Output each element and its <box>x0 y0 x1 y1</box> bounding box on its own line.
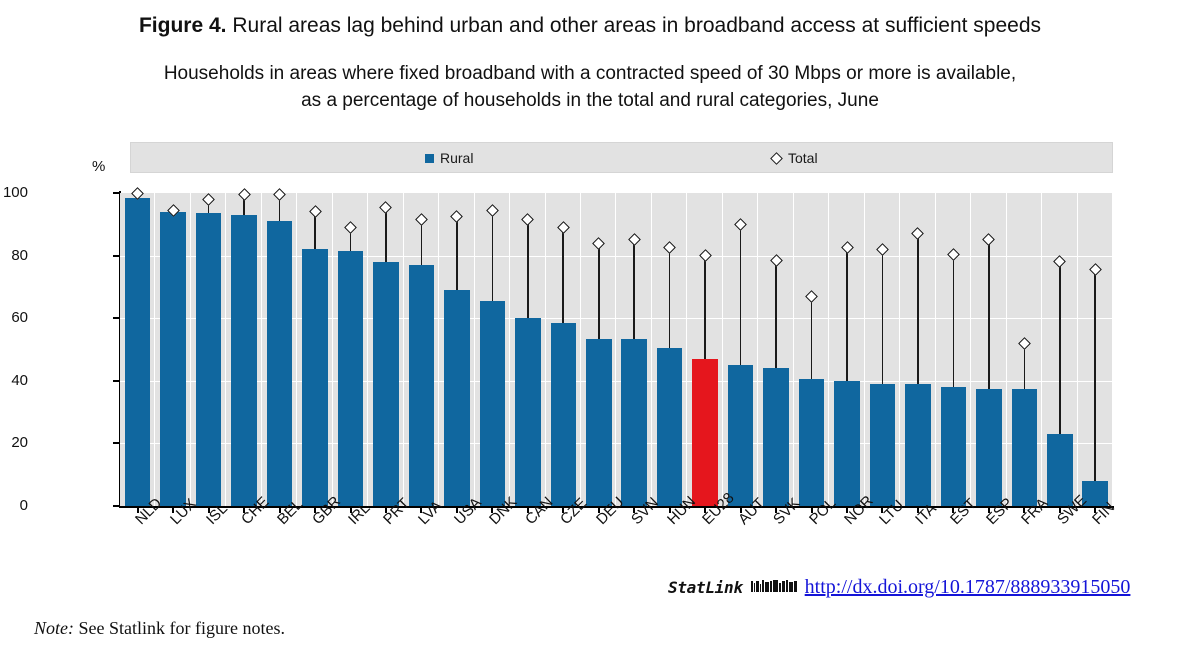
marker-total-aut[interactable] <box>734 218 747 231</box>
bar-rural-svk[interactable] <box>763 368 789 506</box>
y-axis-tick-mark <box>113 505 120 507</box>
marker-stem-prt <box>385 207 387 262</box>
bar-group-fin[interactable] <box>1078 193 1113 506</box>
bar-rural-lva[interactable] <box>409 265 435 506</box>
legend-item-total[interactable]: Total <box>771 148 818 168</box>
marker-total-svn[interactable] <box>628 234 641 247</box>
bar-group-prt[interactable] <box>368 193 403 506</box>
figure-subtitle: Households in areas where fixed broadban… <box>90 60 1090 114</box>
marker-total-deu[interactable] <box>592 237 605 250</box>
y-axis-tick-label: 80 <box>0 247 28 264</box>
bar-group-ltu[interactable] <box>865 193 900 506</box>
bar-rural-irl[interactable] <box>338 251 364 506</box>
bar-group-dnk[interactable] <box>475 193 510 506</box>
marker-stem-svk <box>775 260 777 368</box>
figure-title: Figure 4. Rural areas lag behind urban a… <box>0 12 1180 40</box>
statlink-row: StatLink http://dx.doi.org/10.1787/88893… <box>668 576 1130 599</box>
bar-group-esp[interactable] <box>971 193 1006 506</box>
bar-rural-esp[interactable] <box>976 389 1002 506</box>
marker-total-lva[interactable] <box>415 213 428 226</box>
bar-group-cze[interactable] <box>546 193 581 506</box>
marker-stem-lva <box>421 220 423 265</box>
marker-total-pol[interactable] <box>805 290 818 303</box>
open-diamond-icon <box>770 152 783 165</box>
bar-rural-dnk[interactable] <box>480 301 506 506</box>
marker-total-fin[interactable] <box>1089 263 1102 276</box>
bar-rural-nld[interactable] <box>125 198 151 506</box>
y-axis-tick-mark <box>113 442 120 444</box>
bar-rural-cze[interactable] <box>551 323 577 506</box>
bar-group-isl[interactable] <box>191 193 226 506</box>
marker-total-svk[interactable] <box>770 254 783 267</box>
marker-stem-pol <box>811 296 813 379</box>
bar-rural-lux[interactable] <box>160 212 186 506</box>
y-axis-tick-label: 100 <box>0 184 28 201</box>
y-axis-unit-label: % <box>92 158 105 175</box>
bar-rural-isl[interactable] <box>196 213 222 506</box>
bar-rural-gbr[interactable] <box>302 249 328 506</box>
y-axis-tick-mark <box>113 380 120 382</box>
bar-rural-pol[interactable] <box>799 379 825 506</box>
bar-group-lux[interactable] <box>155 193 190 506</box>
bar-group-est[interactable] <box>936 193 971 506</box>
marker-total-gbr[interactable] <box>309 205 322 218</box>
marker-stem-hun <box>669 248 671 348</box>
marker-total-isl[interactable] <box>202 193 215 206</box>
marker-total-cze[interactable] <box>557 221 570 234</box>
filled-square-icon <box>425 154 434 163</box>
marker-stem-ltu <box>882 249 884 384</box>
y-axis-tick-label: 60 <box>0 309 28 326</box>
marker-total-esp[interactable] <box>982 234 995 247</box>
y-axis-tick-mark <box>113 255 120 257</box>
marker-stem-usa <box>456 216 458 290</box>
bar-rural-nor[interactable] <box>834 381 860 506</box>
marker-stem-svn <box>633 240 635 339</box>
marker-total-fra[interactable] <box>1018 337 1031 350</box>
bar-group-aut[interactable] <box>723 193 758 506</box>
bar-group-pol[interactable] <box>794 193 829 506</box>
marker-stem-can <box>527 220 529 319</box>
bar-group-che[interactable] <box>226 193 261 506</box>
bar-group-bel[interactable] <box>262 193 297 506</box>
figure-number: Figure 4. <box>139 14 227 37</box>
marker-stem-ita <box>917 234 919 384</box>
marker-stem-aut <box>740 224 742 365</box>
chart-legend: Rural Total <box>130 142 1113 173</box>
statlink-label: StatLink <box>668 578 743 597</box>
marker-total-irl[interactable] <box>344 221 357 234</box>
marker-total-est[interactable] <box>947 248 960 261</box>
bar-rural-svn[interactable] <box>621 339 647 506</box>
marker-total-che[interactable] <box>238 188 251 201</box>
bar-rural-che[interactable] <box>231 215 257 506</box>
marker-total-hun[interactable] <box>663 241 676 254</box>
marker-stem-fin <box>1094 270 1096 481</box>
marker-total-can[interactable] <box>521 213 534 226</box>
bar-group-can[interactable] <box>510 193 545 506</box>
marker-stem-dnk <box>492 210 494 301</box>
marker-stem-cze <box>562 227 564 322</box>
y-axis-tick-mark <box>113 192 120 194</box>
bar-rural-est[interactable] <box>941 387 967 506</box>
legend-label-rural: Rural <box>440 148 473 168</box>
bar-rural-aut[interactable] <box>728 365 754 506</box>
bar-group-svk[interactable] <box>758 193 793 506</box>
statlink-url-link[interactable]: http://dx.doi.org/10.1787/888933915050 <box>805 576 1131 599</box>
bar-rural-bel[interactable] <box>267 221 293 506</box>
y-axis-tick-label: 40 <box>0 372 28 389</box>
marker-total-ita[interactable] <box>912 227 925 240</box>
bar-group-ita[interactable] <box>900 193 935 506</box>
marker-total-nor[interactable] <box>841 241 854 254</box>
bar-rural-hun[interactable] <box>657 348 683 506</box>
bar-group-eu28[interactable] <box>687 193 722 506</box>
legend-label-total: Total <box>788 148 818 168</box>
bar-group-swe[interactable] <box>1042 193 1077 506</box>
bar-rural-ltu[interactable] <box>870 384 896 506</box>
figure-subtitle-line2: as a percentage of households in the tot… <box>90 87 1090 114</box>
bar-rural-can[interactable] <box>515 318 541 506</box>
marker-total-ltu[interactable] <box>876 243 889 256</box>
bar-group-irl[interactable] <box>333 193 368 506</box>
marker-total-dnk[interactable] <box>486 204 499 217</box>
bar-rural-usa[interactable] <box>444 290 470 506</box>
marker-stem-swe <box>1059 262 1061 434</box>
bar-rural-ita[interactable] <box>905 384 931 506</box>
y-axis-tick-label: 0 <box>0 497 28 514</box>
y-axis-tick-mark <box>113 317 120 319</box>
figure-note: Note: See Statlink for figure notes. <box>34 618 285 639</box>
bar-group-gbr[interactable] <box>297 193 332 506</box>
statlink-barcode-icon <box>751 579 797 594</box>
marker-total-bel[interactable] <box>273 188 286 201</box>
bar-rural-deu[interactable] <box>586 339 612 506</box>
bar-rural-fra[interactable] <box>1012 389 1038 506</box>
bar-group-nor[interactable] <box>829 193 864 506</box>
bar-rural-eu28[interactable] <box>692 359 718 506</box>
bar-group-lva[interactable] <box>404 193 439 506</box>
marker-total-prt[interactable] <box>380 201 393 214</box>
bar-group-nld[interactable] <box>120 193 155 506</box>
marker-stem-eu28 <box>704 256 706 359</box>
bar-rural-swe[interactable] <box>1047 434 1073 506</box>
chart-plot-area: 020406080100 <box>120 193 1113 506</box>
marker-stem-nor <box>846 248 848 381</box>
marker-stem-est <box>953 254 955 387</box>
y-axis-tick-label: 20 <box>0 434 28 451</box>
legend-item-rural[interactable]: Rural <box>425 148 473 168</box>
bar-group-deu[interactable] <box>581 193 616 506</box>
marker-stem-deu <box>598 243 600 338</box>
category-separator <box>1112 193 1113 506</box>
figure-note-lead: Note: <box>34 618 74 638</box>
figure-note-text: See Statlink for figure notes. <box>79 618 285 638</box>
bar-group-fra[interactable] <box>1007 193 1042 506</box>
bar-group-svn[interactable] <box>617 193 652 506</box>
marker-total-eu28[interactable] <box>699 249 712 262</box>
marker-total-usa[interactable] <box>451 210 464 223</box>
bar-rural-prt[interactable] <box>373 262 399 506</box>
marker-stem-esp <box>988 240 990 389</box>
bar-group-hun[interactable] <box>652 193 687 506</box>
marker-total-swe[interactable] <box>1053 255 1066 268</box>
figure-subtitle-line1: Households in areas where fixed broadban… <box>90 60 1090 87</box>
bar-group-usa[interactable] <box>439 193 474 506</box>
figure-title-text: Rural areas lag behind urban and other a… <box>232 14 1041 37</box>
